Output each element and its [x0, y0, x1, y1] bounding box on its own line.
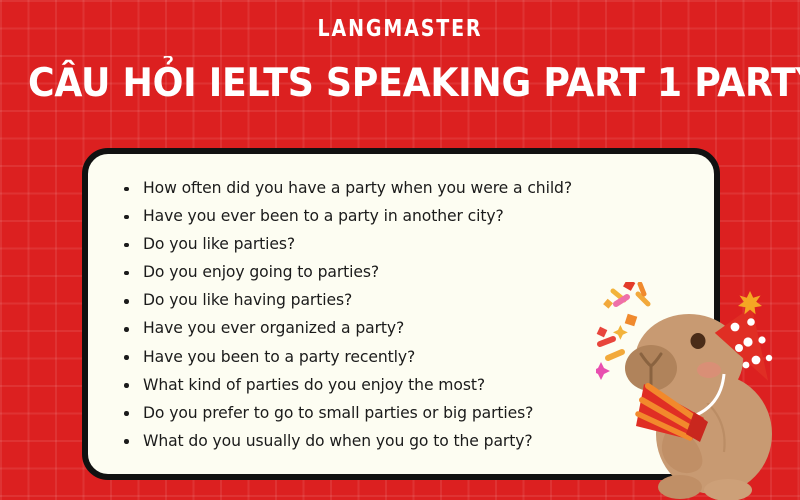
question-list-item: How often did you have a party when you …	[120, 174, 704, 202]
question-list-item: Have you ever been to a party in another…	[120, 202, 704, 230]
brand-logo: LANGMASTER	[32, 16, 768, 42]
capybara-mascot	[596, 282, 800, 500]
question-list-item: Do you like parties?	[120, 230, 704, 258]
page-title: CÂU HỎI IELTS SPEAKING PART 1 PARTY	[28, 62, 772, 106]
poster-canvas: LANGMASTER CÂU HỎI IELTS SPEAKING PART 1…	[0, 0, 800, 500]
